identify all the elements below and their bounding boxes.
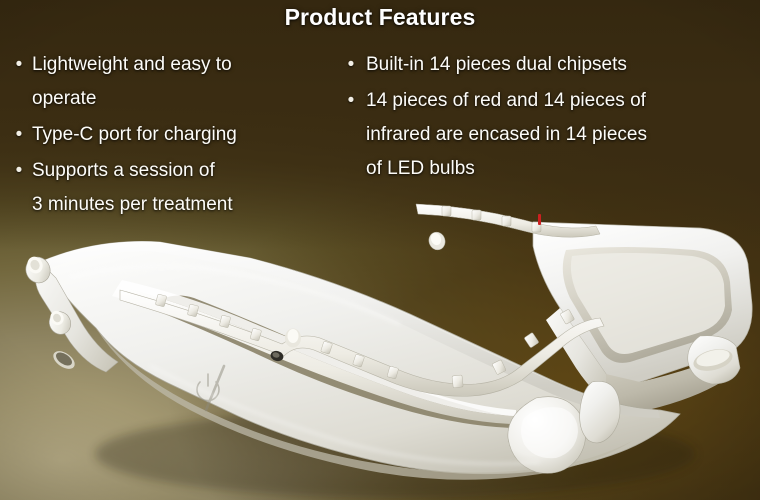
- list-item: • Type-C port for charging: [6, 118, 336, 152]
- feature-text: Type-C port for charging: [32, 118, 336, 152]
- led-bulb-upper: [427, 230, 448, 252]
- led-indicator-red: [538, 214, 541, 225]
- bullet-marker-icon: •: [336, 48, 366, 82]
- page-title: Product Features: [0, 4, 760, 31]
- led-bulb-center: [285, 329, 301, 348]
- bullet-marker-icon: •: [6, 154, 32, 188]
- feature-text: Built-in 14 pieces dual chipsets: [366, 48, 754, 82]
- feature-column-left: • Lightweight and easy to operate • Type…: [6, 48, 336, 224]
- bullet-marker-icon: •: [6, 48, 32, 82]
- list-item: • Supports a session of 3 minutes per tr…: [6, 154, 336, 222]
- led-bulb-floating-2: [45, 308, 74, 338]
- feature-text: 14 pieces of red and 14 pieces of infrar…: [366, 84, 754, 186]
- led-bulb-floating-1: [22, 253, 54, 286]
- bullet-marker-icon: •: [336, 84, 366, 118]
- feature-column-right: • Built-in 14 pieces dual chipsets • 14 …: [336, 48, 754, 188]
- slide-canvas: Product Features • Lightweight and easy …: [0, 0, 760, 500]
- feature-text: Supports a session of 3 minutes per trea…: [32, 154, 336, 222]
- list-item: • Lightweight and easy to operate: [6, 48, 336, 116]
- floating-led-bulbs: [12, 250, 132, 370]
- feature-text: Lightweight and easy to operate: [32, 48, 336, 116]
- list-item: • Built-in 14 pieces dual chipsets: [336, 48, 754, 82]
- bullet-marker-icon: •: [6, 118, 32, 152]
- list-item: • 14 pieces of red and 14 pieces of infr…: [336, 84, 754, 186]
